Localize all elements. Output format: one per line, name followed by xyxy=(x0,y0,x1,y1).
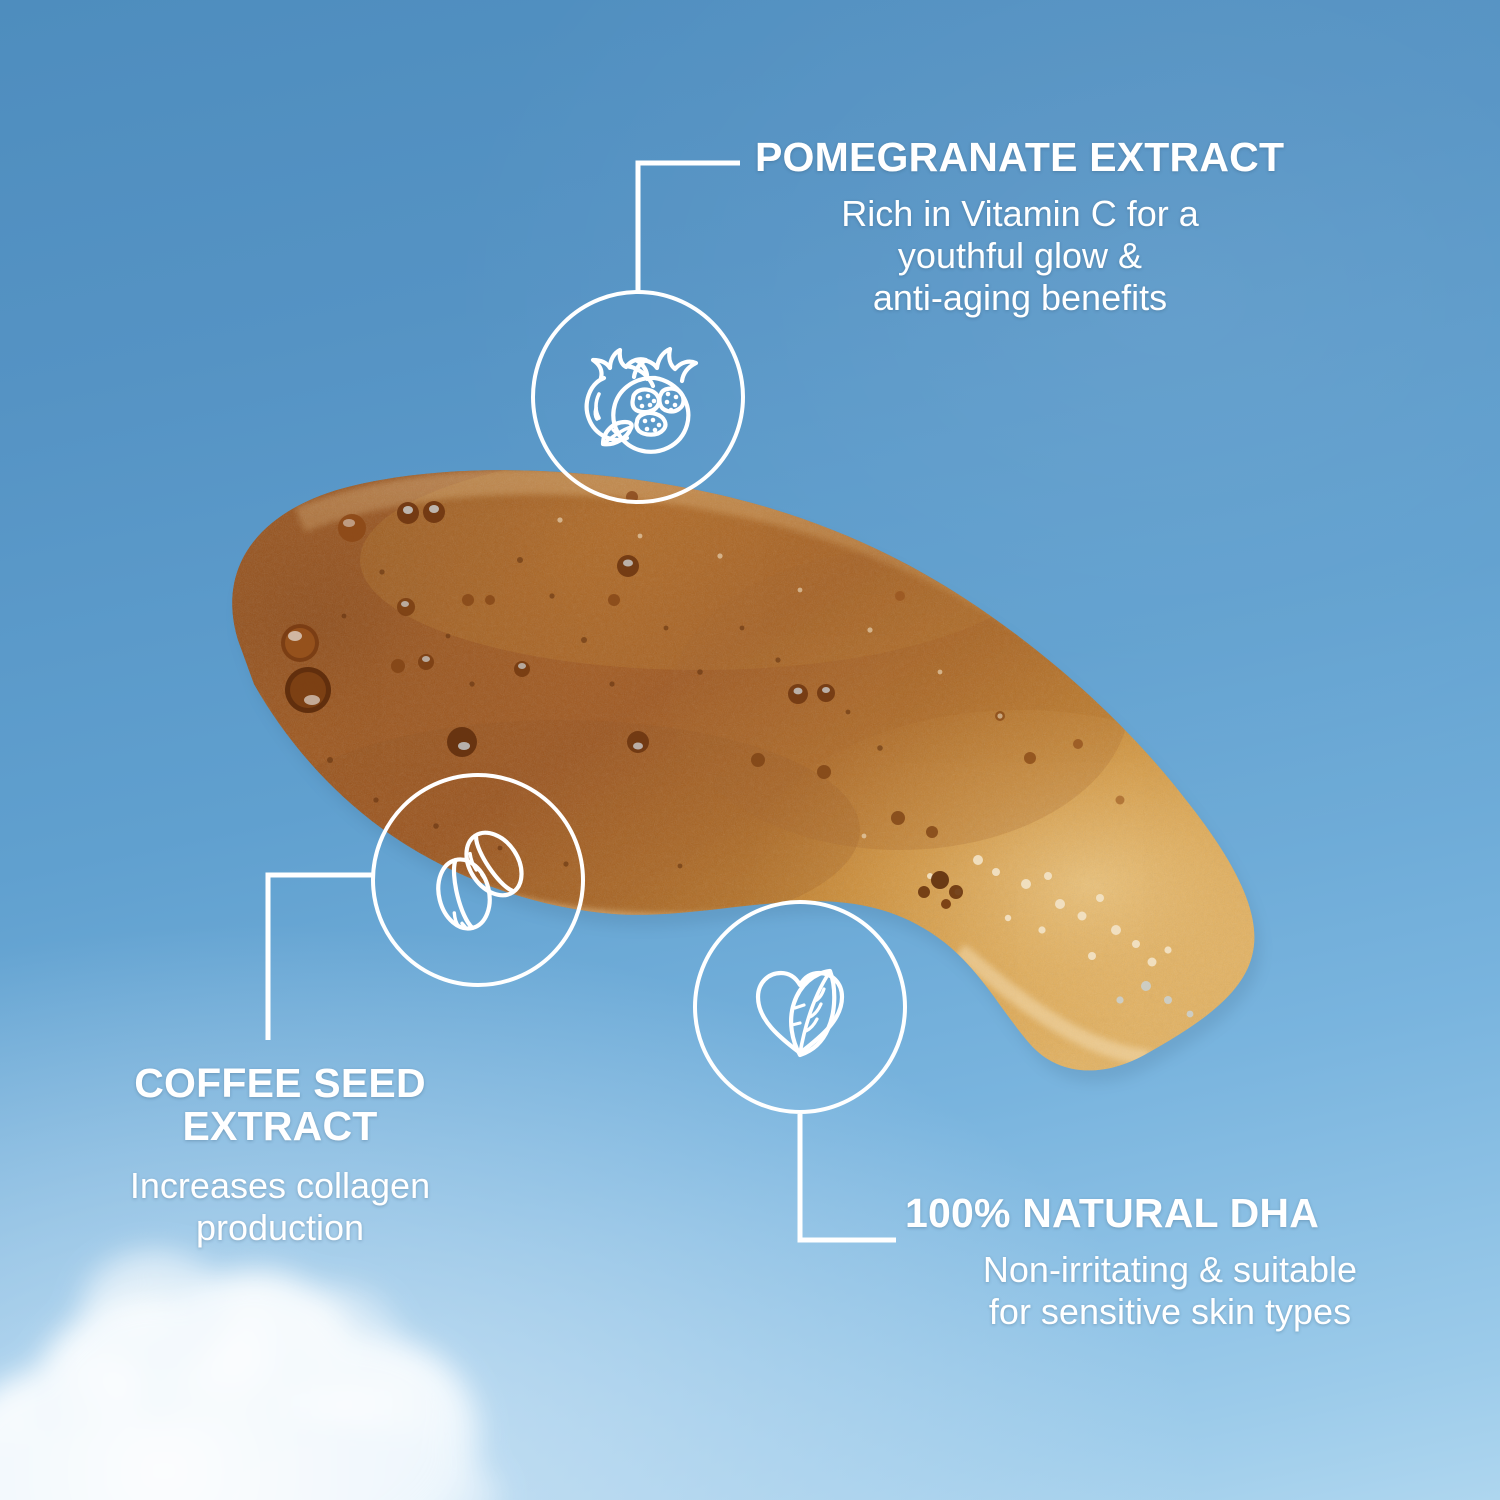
dha-desc-line-1: Non-irritating & suitable xyxy=(905,1249,1435,1291)
pomegranate-icon xyxy=(563,322,713,472)
callout-text-pomegranate: POMEGRANATE EXTRACT Rich in Vitamin C fo… xyxy=(755,136,1415,319)
badge-natural-dha[interactable] xyxy=(693,900,907,1114)
product-ingredient-infographic: POMEGRANATE EXTRACT Rich in Vitamin C fo… xyxy=(0,0,1500,1500)
pomegranate-title: POMEGRANATE EXTRACT xyxy=(755,136,1415,179)
badge-pomegranate[interactable] xyxy=(531,290,745,504)
dha-title: 100% NATURAL DHA xyxy=(905,1192,1445,1235)
coffee-desc-line-2: production xyxy=(60,1207,500,1249)
coffee-title: COFFEE SEED EXTRACT xyxy=(60,1062,500,1147)
callout-text-natural-dha: 100% NATURAL DHA Non-irritating & suitab… xyxy=(905,1192,1445,1333)
coffee-description: Increases collagen production xyxy=(60,1165,500,1249)
pomegranate-desc-line-1: Rich in Vitamin C for a xyxy=(755,193,1285,235)
coffee-desc-line-1: Increases collagen xyxy=(60,1165,500,1207)
cloud-graphic xyxy=(0,1240,560,1500)
badge-coffee-seed[interactable] xyxy=(371,773,585,987)
coffee-bean-icon xyxy=(408,810,548,950)
pomegranate-desc-line-2: youthful glow & xyxy=(755,235,1285,277)
coffee-title-line-1: COFFEE SEED xyxy=(60,1062,500,1105)
callout-text-coffee-seed: COFFEE SEED EXTRACT Increases collagen p… xyxy=(60,1062,500,1249)
dha-description: Non-irritating & suitable for sensitive … xyxy=(905,1249,1435,1333)
pomegranate-desc-line-3: anti-aging benefits xyxy=(755,277,1285,319)
coffee-title-line-2: EXTRACT xyxy=(60,1105,500,1148)
pomegranate-description: Rich in Vitamin C for a youthful glow & … xyxy=(755,193,1285,319)
heart-leaf-icon xyxy=(730,937,870,1077)
dha-desc-line-2: for sensitive skin types xyxy=(905,1291,1435,1333)
